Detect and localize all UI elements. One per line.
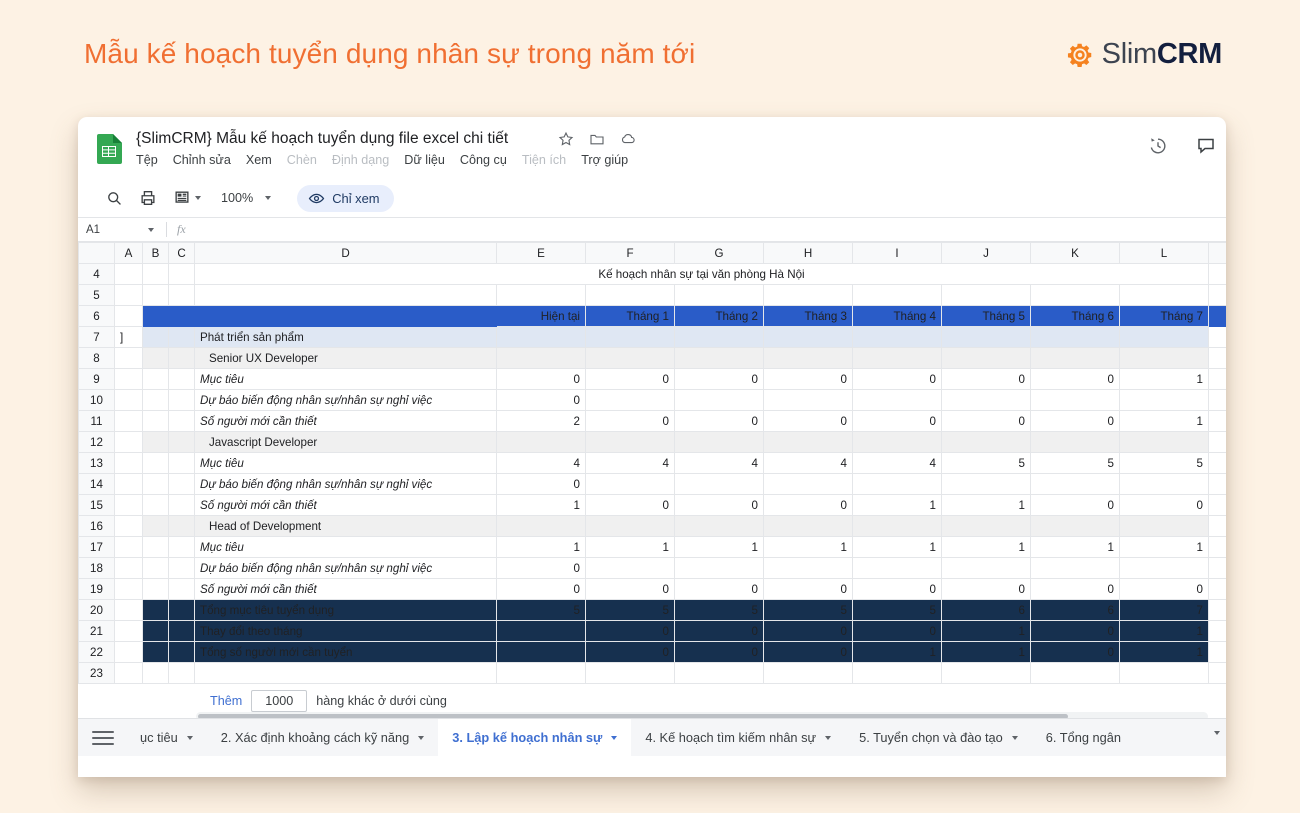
cell[interactable]: 1: [1120, 411, 1209, 432]
cell[interactable]: [115, 537, 143, 558]
cell[interactable]: 0: [764, 411, 853, 432]
row-header-13[interactable]: 13: [79, 453, 115, 474]
cell[interactable]: [169, 348, 195, 369]
cell[interactable]: [169, 516, 195, 537]
cell[interactable]: [115, 369, 143, 390]
cell[interactable]: [942, 474, 1031, 495]
cell[interactable]: 0: [1031, 621, 1120, 642]
row-header-23[interactable]: 23: [79, 663, 115, 684]
cell[interactable]: [853, 663, 942, 684]
cell[interactable]: 0: [675, 495, 764, 516]
cell[interactable]: [1031, 390, 1120, 411]
role-label-cell[interactable]: Senior UX Developer: [195, 348, 497, 369]
cell[interactable]: [1209, 558, 1227, 579]
cell[interactable]: [1209, 516, 1227, 537]
cell[interactable]: 0: [1031, 579, 1120, 600]
cell[interactable]: 0: [764, 579, 853, 600]
row-header-18[interactable]: 18: [79, 558, 115, 579]
cell[interactable]: [169, 369, 195, 390]
metric-label-cell[interactable]: Số người mới cần thiết: [195, 579, 497, 600]
cell[interactable]: 0: [586, 642, 675, 663]
metric-label-cell[interactable]: Dự báo biến động nhân sự/nhân sự nghỉ vi…: [195, 390, 497, 411]
month-header-1[interactable]: Tháng 1: [586, 306, 675, 327]
cell[interactable]: 6: [942, 600, 1031, 621]
cell[interactable]: [143, 432, 169, 453]
cell[interactable]: [675, 390, 764, 411]
cell[interactable]: [764, 327, 853, 348]
cell[interactable]: [169, 432, 195, 453]
move-folder-icon[interactable]: [589, 131, 605, 147]
cell[interactable]: 0: [764, 621, 853, 642]
cell[interactable]: [497, 516, 586, 537]
cell[interactable]: [143, 369, 169, 390]
cell[interactable]: [1031, 474, 1120, 495]
cell[interactable]: [853, 474, 942, 495]
summary-label-cell[interactable]: Thay đổi theo tháng: [195, 621, 497, 642]
cell[interactable]: [942, 390, 1031, 411]
cell[interactable]: 0: [853, 621, 942, 642]
chevron-down-icon[interactable]: [195, 196, 201, 200]
metric-label-cell[interactable]: Mục tiêu: [195, 369, 497, 390]
cell[interactable]: 0: [1031, 411, 1120, 432]
chevron-down-icon[interactable]: [265, 196, 271, 200]
paint-format-group[interactable]: [173, 189, 201, 207]
cell[interactable]: [853, 558, 942, 579]
cell[interactable]: 0: [497, 390, 586, 411]
cell[interactable]: [143, 495, 169, 516]
column-header-e[interactable]: E: [497, 243, 586, 264]
row-header-21[interactable]: 21: [79, 621, 115, 642]
cell[interactable]: 1: [497, 495, 586, 516]
metric-label-cell[interactable]: Số người mới cần thiết: [195, 495, 497, 516]
column-header-j[interactable]: J: [942, 243, 1031, 264]
menu-item-view[interactable]: Xem: [246, 153, 272, 167]
row-header-9[interactable]: 9: [79, 369, 115, 390]
cell[interactable]: 0: [942, 369, 1031, 390]
cell[interactable]: [586, 516, 675, 537]
month-header-current[interactable]: Hiện tại: [497, 306, 586, 327]
column-header-k[interactable]: K: [1031, 243, 1120, 264]
month-header-5[interactable]: Tháng 5: [942, 306, 1031, 327]
cell[interactable]: [115, 411, 143, 432]
row-header-4[interactable]: 4: [79, 264, 115, 285]
cell[interactable]: [143, 663, 169, 684]
chevron-down-icon[interactable]: [418, 736, 424, 740]
cell[interactable]: 0: [1031, 495, 1120, 516]
cell[interactable]: 0: [1120, 579, 1209, 600]
cell[interactable]: 5: [586, 600, 675, 621]
cell[interactable]: 0: [675, 621, 764, 642]
cell[interactable]: [1120, 474, 1209, 495]
cell[interactable]: [942, 516, 1031, 537]
cell[interactable]: [1031, 558, 1120, 579]
corner-select-all[interactable]: [79, 243, 115, 264]
chevron-down-icon[interactable]: [148, 228, 154, 232]
cell[interactable]: [143, 642, 169, 663]
cell[interactable]: [169, 453, 195, 474]
cell[interactable]: [143, 558, 169, 579]
group-label-cell[interactable]: Phát triển sản phẩm: [195, 327, 497, 348]
sheet-tab-4[interactable]: 4. Kế hoạch tìm kiếm nhân sự: [631, 719, 845, 757]
row-header-19[interactable]: 19: [79, 579, 115, 600]
column-header-b[interactable]: B: [143, 243, 169, 264]
cell[interactable]: 0: [586, 369, 675, 390]
cell[interactable]: 1: [497, 537, 586, 558]
cell[interactable]: 0: [586, 621, 675, 642]
role-label-cell[interactable]: Javascript Developer: [195, 432, 497, 453]
cell[interactable]: [1209, 306, 1227, 327]
cell[interactable]: [1209, 642, 1227, 663]
row-header-12[interactable]: 12: [79, 432, 115, 453]
row-header-16[interactable]: 16: [79, 516, 115, 537]
sheet-tab-5[interactable]: 5. Tuyển chọn và đào tạo: [845, 719, 1032, 757]
cell[interactable]: [764, 558, 853, 579]
column-header-d[interactable]: D: [195, 243, 497, 264]
cell[interactable]: [143, 474, 169, 495]
cell[interactable]: 1: [1120, 642, 1209, 663]
cell[interactable]: [169, 474, 195, 495]
cell[interactable]: [195, 306, 497, 327]
cell[interactable]: 1: [853, 642, 942, 663]
cell[interactable]: [115, 558, 143, 579]
cell[interactable]: [853, 348, 942, 369]
cell[interactable]: 1: [853, 537, 942, 558]
cell[interactable]: 0: [764, 369, 853, 390]
cell[interactable]: [1209, 537, 1227, 558]
cell[interactable]: [942, 348, 1031, 369]
cell[interactable]: [764, 516, 853, 537]
metric-label-cell[interactable]: Mục tiêu: [195, 453, 497, 474]
row-header-15[interactable]: 15: [79, 495, 115, 516]
cell[interactable]: 0: [675, 369, 764, 390]
cell[interactable]: [1209, 432, 1227, 453]
cell[interactable]: [143, 516, 169, 537]
menu-item-tools[interactable]: Công cụ: [460, 153, 507, 167]
cell[interactable]: [169, 579, 195, 600]
cell[interactable]: 0: [853, 579, 942, 600]
cell[interactable]: [169, 390, 195, 411]
cell[interactable]: 0: [1031, 642, 1120, 663]
row-header-14[interactable]: 14: [79, 474, 115, 495]
row-header-17[interactable]: 17: [79, 537, 115, 558]
cell[interactable]: 0: [497, 579, 586, 600]
cell[interactable]: [115, 348, 143, 369]
cell[interactable]: [497, 621, 586, 642]
cell[interactable]: [1031, 285, 1120, 306]
summary-label-cell[interactable]: Tổng số người mới cần tuyển: [195, 642, 497, 663]
cell[interactable]: 4: [497, 453, 586, 474]
cell[interactable]: [764, 348, 853, 369]
cell[interactable]: 5: [764, 600, 853, 621]
cell[interactable]: [169, 411, 195, 432]
cell[interactable]: [169, 558, 195, 579]
chevron-down-icon[interactable]: [1012, 736, 1018, 740]
cell[interactable]: [942, 327, 1031, 348]
cell[interactable]: [169, 306, 195, 327]
cell[interactable]: 0: [675, 642, 764, 663]
role-label-cell[interactable]: Head of Development: [195, 516, 497, 537]
sheet-title-cell[interactable]: Kế hoạch nhân sự tại văn phòng Hà Nội: [195, 264, 1209, 285]
cell[interactable]: [115, 579, 143, 600]
chevron-down-icon[interactable]: [611, 736, 617, 740]
cell[interactable]: [1209, 411, 1227, 432]
column-header-h[interactable]: H: [764, 243, 853, 264]
metric-label-cell[interactable]: Dự báo biến động nhân sự/nhân sự nghỉ vi…: [195, 558, 497, 579]
cell[interactable]: [143, 327, 169, 348]
cell[interactable]: [115, 285, 143, 306]
cell[interactable]: [1120, 327, 1209, 348]
sheet-tab-3[interactable]: 3. Lập kế hoạch nhân sự: [438, 719, 631, 757]
cell[interactable]: 0: [764, 495, 853, 516]
cell[interactable]: [1031, 432, 1120, 453]
cell[interactable]: [1209, 369, 1227, 390]
row-header-11[interactable]: 11: [79, 411, 115, 432]
cell[interactable]: [169, 642, 195, 663]
cell[interactable]: [169, 537, 195, 558]
cell[interactable]: 2: [497, 411, 586, 432]
cell[interactable]: [1209, 327, 1227, 348]
cell[interactable]: 4: [764, 453, 853, 474]
cell[interactable]: 6: [1031, 600, 1120, 621]
month-header-3[interactable]: Tháng 3: [764, 306, 853, 327]
cell[interactable]: [764, 390, 853, 411]
cell[interactable]: [169, 264, 195, 285]
cell[interactable]: [675, 285, 764, 306]
cell[interactable]: [675, 474, 764, 495]
cell[interactable]: [115, 600, 143, 621]
cell[interactable]: [1120, 663, 1209, 684]
cell[interactable]: 0: [942, 411, 1031, 432]
cell[interactable]: [1031, 516, 1120, 537]
row-header-8[interactable]: 8: [79, 348, 115, 369]
chevron-down-icon[interactable]: [825, 736, 831, 740]
cell[interactable]: [115, 390, 143, 411]
column-header-c[interactable]: C: [169, 243, 195, 264]
cell[interactable]: [169, 600, 195, 621]
cell[interactable]: 5: [853, 600, 942, 621]
cell[interactable]: 1: [1120, 621, 1209, 642]
cell[interactable]: [169, 285, 195, 306]
cell[interactable]: [115, 432, 143, 453]
cell[interactable]: [1209, 285, 1227, 306]
month-header-4[interactable]: Tháng 4: [853, 306, 942, 327]
cell[interactable]: [1209, 453, 1227, 474]
cell[interactable]: [675, 348, 764, 369]
cell[interactable]: [115, 264, 143, 285]
cell[interactable]: 0: [1120, 495, 1209, 516]
cell[interactable]: [497, 642, 586, 663]
cell[interactable]: [1209, 390, 1227, 411]
cell[interactable]: [143, 390, 169, 411]
cell[interactable]: [1120, 516, 1209, 537]
cell[interactable]: [143, 621, 169, 642]
cell[interactable]: [853, 327, 942, 348]
cell[interactable]: [115, 453, 143, 474]
cell[interactable]: [942, 663, 1031, 684]
cell[interactable]: 4: [675, 453, 764, 474]
cell[interactable]: [853, 285, 942, 306]
cell[interactable]: 1: [942, 621, 1031, 642]
cloud-saved-icon[interactable]: [620, 131, 636, 147]
comment-icon[interactable]: [1196, 136, 1216, 156]
cell[interactable]: 0: [764, 642, 853, 663]
row-header-22[interactable]: 22: [79, 642, 115, 663]
cell[interactable]: [115, 495, 143, 516]
document-title[interactable]: {SlimCRM} Mẫu kế hoạch tuyển dụng file e…: [136, 130, 508, 148]
zoom-control[interactable]: 100%: [221, 191, 271, 205]
cell[interactable]: [1120, 285, 1209, 306]
cell[interactable]: 1: [1120, 369, 1209, 390]
cell[interactable]: [143, 411, 169, 432]
cell[interactable]: 4: [586, 453, 675, 474]
column-header-g[interactable]: G: [675, 243, 764, 264]
cell[interactable]: 0: [853, 411, 942, 432]
cell[interactable]: 1: [764, 537, 853, 558]
cell[interactable]: 1: [586, 537, 675, 558]
cell[interactable]: 1: [675, 537, 764, 558]
cell[interactable]: [1031, 327, 1120, 348]
cell[interactable]: [586, 474, 675, 495]
cell[interactable]: [586, 558, 675, 579]
cell[interactable]: 5: [675, 600, 764, 621]
cell[interactable]: [764, 663, 853, 684]
cell[interactable]: [143, 348, 169, 369]
paint-format-icon[interactable]: [173, 189, 191, 207]
row-header-20[interactable]: 20: [79, 600, 115, 621]
cell[interactable]: [675, 327, 764, 348]
sheet-tab-2[interactable]: 2. Xác định khoảng cách kỹ năng: [207, 719, 439, 757]
cell[interactable]: [115, 306, 143, 327]
cell[interactable]: [169, 621, 195, 642]
cell[interactable]: [586, 285, 675, 306]
cell[interactable]: [115, 621, 143, 642]
metric-label-cell[interactable]: Dự báo biến động nhân sự/nhân sự nghỉ vi…: [195, 474, 497, 495]
month-header-7[interactable]: Tháng 7: [1120, 306, 1209, 327]
cell[interactable]: [675, 558, 764, 579]
metric-label-cell[interactable]: Mục tiêu: [195, 537, 497, 558]
chevron-down-icon[interactable]: [1214, 731, 1220, 735]
month-header-6[interactable]: Tháng 6: [1031, 306, 1120, 327]
version-history-icon[interactable]: [1148, 136, 1168, 156]
cell[interactable]: [586, 327, 675, 348]
column-header-f[interactable]: F: [586, 243, 675, 264]
metric-label-cell[interactable]: Số người mới cần thiết: [195, 411, 497, 432]
cell[interactable]: 1: [942, 495, 1031, 516]
star-icon[interactable]: [558, 131, 574, 147]
column-header-i[interactable]: I: [853, 243, 942, 264]
sheet-tab-1[interactable]: ục tiêu: [126, 719, 207, 757]
cell[interactable]: [115, 642, 143, 663]
menu-item-help[interactable]: Trợ giúp: [581, 153, 628, 167]
cell[interactable]: [853, 390, 942, 411]
cell[interactable]: [195, 285, 497, 306]
cell[interactable]: [1120, 558, 1209, 579]
cell[interactable]: [942, 285, 1031, 306]
add-rows-link[interactable]: Thêm: [210, 694, 242, 708]
cell[interactable]: 0: [586, 579, 675, 600]
cell[interactable]: [195, 663, 497, 684]
menu-item-file[interactable]: Tệp: [136, 153, 158, 167]
group-marker-cell[interactable]: ]: [115, 327, 143, 348]
cell[interactable]: [143, 579, 169, 600]
cell[interactable]: [764, 432, 853, 453]
cell[interactable]: 1: [1031, 537, 1120, 558]
menu-item-edit[interactable]: Chỉnh sửa: [173, 153, 231, 167]
print-icon[interactable]: [139, 189, 157, 207]
cell[interactable]: 0: [497, 369, 586, 390]
row-header-5[interactable]: 5: [79, 285, 115, 306]
cell[interactable]: [143, 264, 169, 285]
cell[interactable]: 0: [586, 411, 675, 432]
row-header-6[interactable]: 6: [79, 306, 115, 327]
cell[interactable]: 0: [675, 579, 764, 600]
cell[interactable]: 0: [853, 369, 942, 390]
cell[interactable]: [143, 537, 169, 558]
cell[interactable]: [1209, 600, 1227, 621]
cell[interactable]: [497, 348, 586, 369]
cell[interactable]: [586, 663, 675, 684]
cell[interactable]: [853, 432, 942, 453]
cell[interactable]: [143, 306, 169, 327]
row-header-7[interactable]: 7: [79, 327, 115, 348]
cell[interactable]: 1: [853, 495, 942, 516]
chevron-down-icon[interactable]: [187, 736, 193, 740]
cell[interactable]: 0: [497, 558, 586, 579]
column-header-l[interactable]: L: [1120, 243, 1209, 264]
cell[interactable]: [497, 285, 586, 306]
cell[interactable]: [169, 663, 195, 684]
cell[interactable]: 1: [942, 537, 1031, 558]
sheet-tab-6[interactable]: 6. Tổng ngân: [1032, 719, 1135, 757]
cell[interactable]: [497, 327, 586, 348]
add-rows-count-input[interactable]: 1000: [251, 690, 307, 712]
summary-label-cell[interactable]: Tổng mục tiêu tuyển dụng: [195, 600, 497, 621]
cell[interactable]: 0: [675, 411, 764, 432]
cell[interactable]: [1120, 432, 1209, 453]
row-header-10[interactable]: 10: [79, 390, 115, 411]
name-box[interactable]: A1: [78, 218, 166, 241]
cell[interactable]: [143, 600, 169, 621]
cell[interactable]: 0: [497, 474, 586, 495]
cell[interactable]: [764, 285, 853, 306]
cell[interactable]: 0: [942, 579, 1031, 600]
cell[interactable]: [115, 516, 143, 537]
cell[interactable]: [169, 327, 195, 348]
cell[interactable]: [1209, 495, 1227, 516]
cell[interactable]: [1209, 663, 1227, 684]
cell[interactable]: [942, 432, 1031, 453]
cell[interactable]: [853, 516, 942, 537]
cell[interactable]: [586, 432, 675, 453]
cell[interactable]: [1209, 621, 1227, 642]
cell[interactable]: [1209, 348, 1227, 369]
cell[interactable]: 7: [1120, 600, 1209, 621]
cell[interactable]: [675, 432, 764, 453]
view-only-pill[interactable]: Chỉ xem: [297, 185, 393, 212]
cell[interactable]: [115, 474, 143, 495]
cell[interactable]: [942, 558, 1031, 579]
cell[interactable]: 0: [586, 495, 675, 516]
cell[interactable]: [1031, 663, 1120, 684]
cell[interactable]: [497, 432, 586, 453]
cell[interactable]: 1: [1120, 537, 1209, 558]
month-header-2[interactable]: Tháng 2: [675, 306, 764, 327]
cell[interactable]: [586, 390, 675, 411]
cell[interactable]: [1120, 348, 1209, 369]
cell[interactable]: 1: [942, 642, 1031, 663]
cell[interactable]: [586, 348, 675, 369]
cell[interactable]: 5: [942, 453, 1031, 474]
